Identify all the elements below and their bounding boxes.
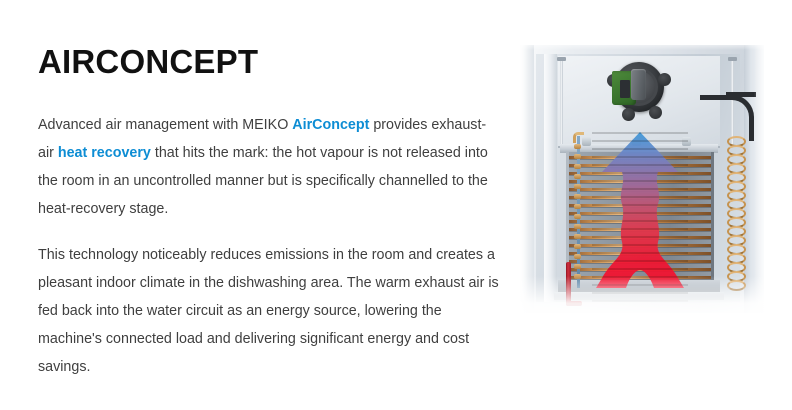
- highlight-heat-recovery: heat recovery: [58, 145, 151, 161]
- rod-cap-left: [557, 57, 566, 61]
- exhaust-hose: [700, 95, 754, 141]
- aircontept-page: AIRCONCEPT Advanced air management with …: [0, 0, 792, 410]
- paragraph-2: This technology noticeably reduces emiss…: [38, 241, 500, 381]
- brass-fitting: [574, 204, 581, 209]
- blower-motor-cover: [631, 69, 646, 100]
- brass-fitting: [574, 184, 581, 189]
- text-segment: This technology noticeably reduces emiss…: [38, 247, 499, 375]
- blower-mount-tab: [622, 108, 635, 121]
- blower-fan-module: [605, 60, 671, 122]
- support-rod-left: [560, 60, 563, 146]
- photo-fade-top: [514, 40, 770, 50]
- photo-fade-left: [514, 40, 528, 320]
- product-image: [514, 40, 770, 320]
- brass-fitting: [574, 254, 581, 259]
- product-photo: [514, 40, 770, 320]
- page-title: AIRCONCEPT: [38, 44, 500, 80]
- brass-fitting: [574, 164, 581, 169]
- brass-elbow: [573, 132, 584, 143]
- content-column: AIRCONCEPT Advanced air management with …: [38, 44, 500, 381]
- paragraph-1: Advanced air management with MEIKO AirCo…: [38, 111, 500, 223]
- inner-pillar: [544, 54, 557, 302]
- photo-fade-bottom: [514, 276, 770, 320]
- brass-fitting: [574, 214, 581, 219]
- rod-cap-right: [728, 57, 737, 61]
- brass-fitting: [574, 234, 581, 239]
- copper-coil: [727, 136, 746, 288]
- brass-fitting: [574, 194, 581, 199]
- brass-fitting: [574, 174, 581, 179]
- brass-fitting: [574, 244, 581, 249]
- brass-fitting: [574, 224, 581, 229]
- brass-fitting: [574, 154, 581, 159]
- exhaust-hose-end: [726, 92, 756, 97]
- text-segment: Advanced air management with MEIKO: [38, 117, 292, 133]
- highlight-airconcept: AirConcept: [292, 117, 369, 133]
- photo-fade-right: [754, 40, 770, 320]
- blower-mount-tab: [649, 106, 662, 119]
- brass-fitting: [574, 144, 581, 149]
- brass-fitting: [574, 264, 581, 269]
- blower-mount-tab: [658, 73, 671, 86]
